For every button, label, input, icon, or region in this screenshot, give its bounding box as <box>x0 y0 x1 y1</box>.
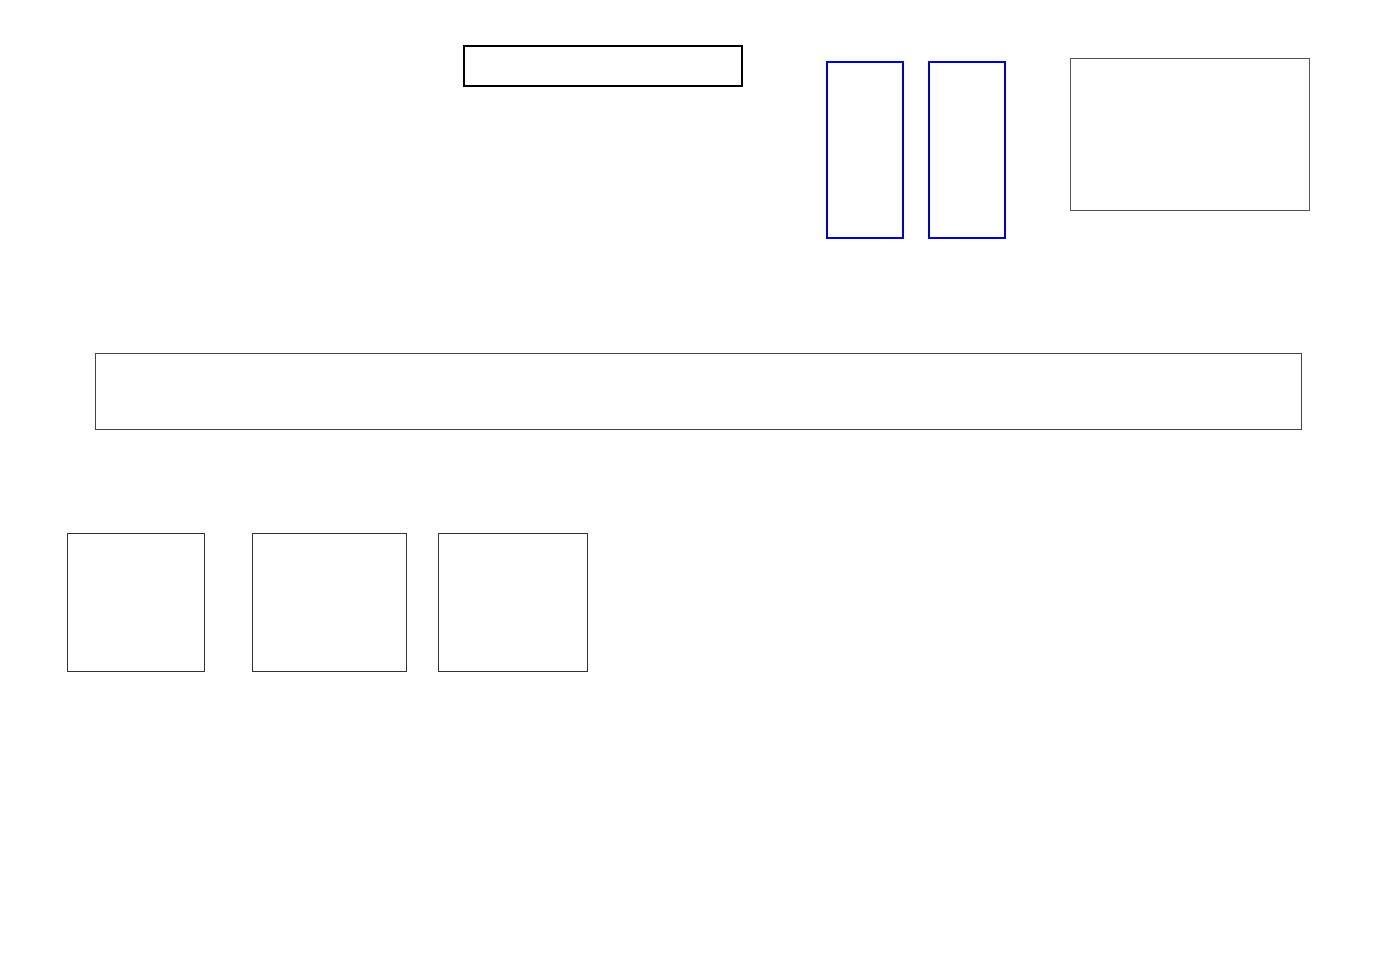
spectrum-frame <box>95 353 1302 430</box>
kpno-image[interactable] <box>438 533 588 672</box>
header-timestamp-version <box>1366 4 1382 20</box>
gaussian-fit-frame <box>1070 58 1310 211</box>
weighted-sum-pixelflat <box>557 47 649 85</box>
lineflux-map-image[interactable] <box>252 533 407 672</box>
gaussian-fit-plot <box>1038 58 1310 233</box>
full-spectrum-plot <box>0 265 1400 470</box>
fiber-positions-image[interactable] <box>67 533 205 672</box>
weighted-sum-strip <box>463 45 743 87</box>
weighted-sum-smoothed <box>649 47 741 85</box>
header-summary-line <box>70 4 266 20</box>
cutout-with-sky-image <box>826 61 904 239</box>
cutout-clean-image <box>928 61 1006 239</box>
weighted-sum-2dspec <box>465 47 557 85</box>
